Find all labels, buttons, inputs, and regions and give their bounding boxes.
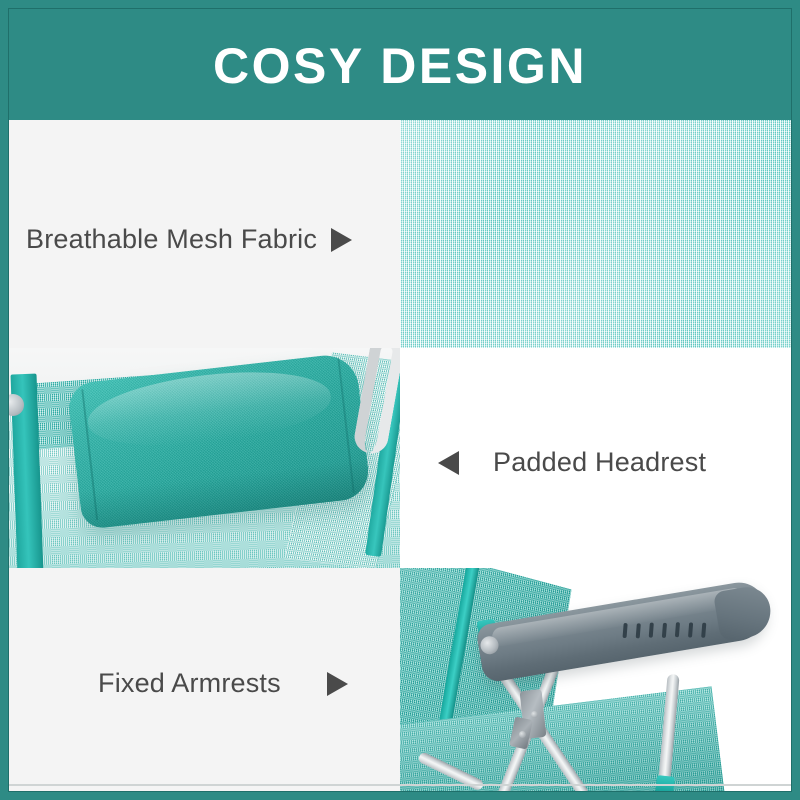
armrest-vent-slot: [675, 623, 680, 638]
armrest-screw-upper: [531, 711, 538, 718]
caption-fixed-armrests: Fixed Armrests: [98, 668, 348, 699]
caption-label-armrest: Fixed Armrests: [98, 668, 281, 699]
caption-breathable-mesh-fabric: Breathable Mesh Fabric: [26, 224, 352, 255]
panel-armrest-caption: Fixed Armrests: [8, 568, 400, 792]
bottom-hairline-divider: [8, 784, 792, 786]
panel-mesh-caption: Breathable Mesh Fabric: [8, 120, 400, 348]
armrest-vent-slot: [649, 623, 654, 638]
caption-padded-headrest: Padded Headrest: [438, 447, 706, 478]
header-banner: COSY DESIGN: [8, 8, 792, 120]
panel-headrest-photo: [8, 348, 400, 568]
caption-label-mesh: Breathable Mesh Fabric: [26, 224, 317, 255]
armrest-vent-slot: [662, 623, 667, 638]
panel-armrest-photo: [400, 568, 792, 792]
arrow-left-icon: [438, 451, 459, 475]
headrest-product-photo: [8, 348, 400, 568]
armrest-vent-slot: [688, 623, 693, 638]
infographic-canvas: COSY DESIGN Breathable Mesh Fabric: [0, 0, 800, 800]
mesh-fabric-sheen: [400, 120, 792, 348]
armrest-vent-slot: [636, 623, 641, 638]
arrow-right-icon: [327, 672, 348, 696]
panel-headrest-caption: Padded Headrest: [400, 348, 792, 568]
page-title: COSY DESIGN: [213, 41, 587, 91]
armrest-vent-slot: [701, 622, 706, 637]
armrest-vent-slot: [623, 623, 628, 638]
arrow-right-icon: [331, 228, 352, 252]
caption-label-headrest: Padded Headrest: [493, 447, 706, 478]
armrest-screw-lower: [519, 731, 526, 738]
panel-mesh-swatch: [400, 120, 792, 348]
feature-grid: Breathable Mesh Fabric: [8, 120, 792, 792]
armrest-product-photo: [400, 568, 792, 792]
